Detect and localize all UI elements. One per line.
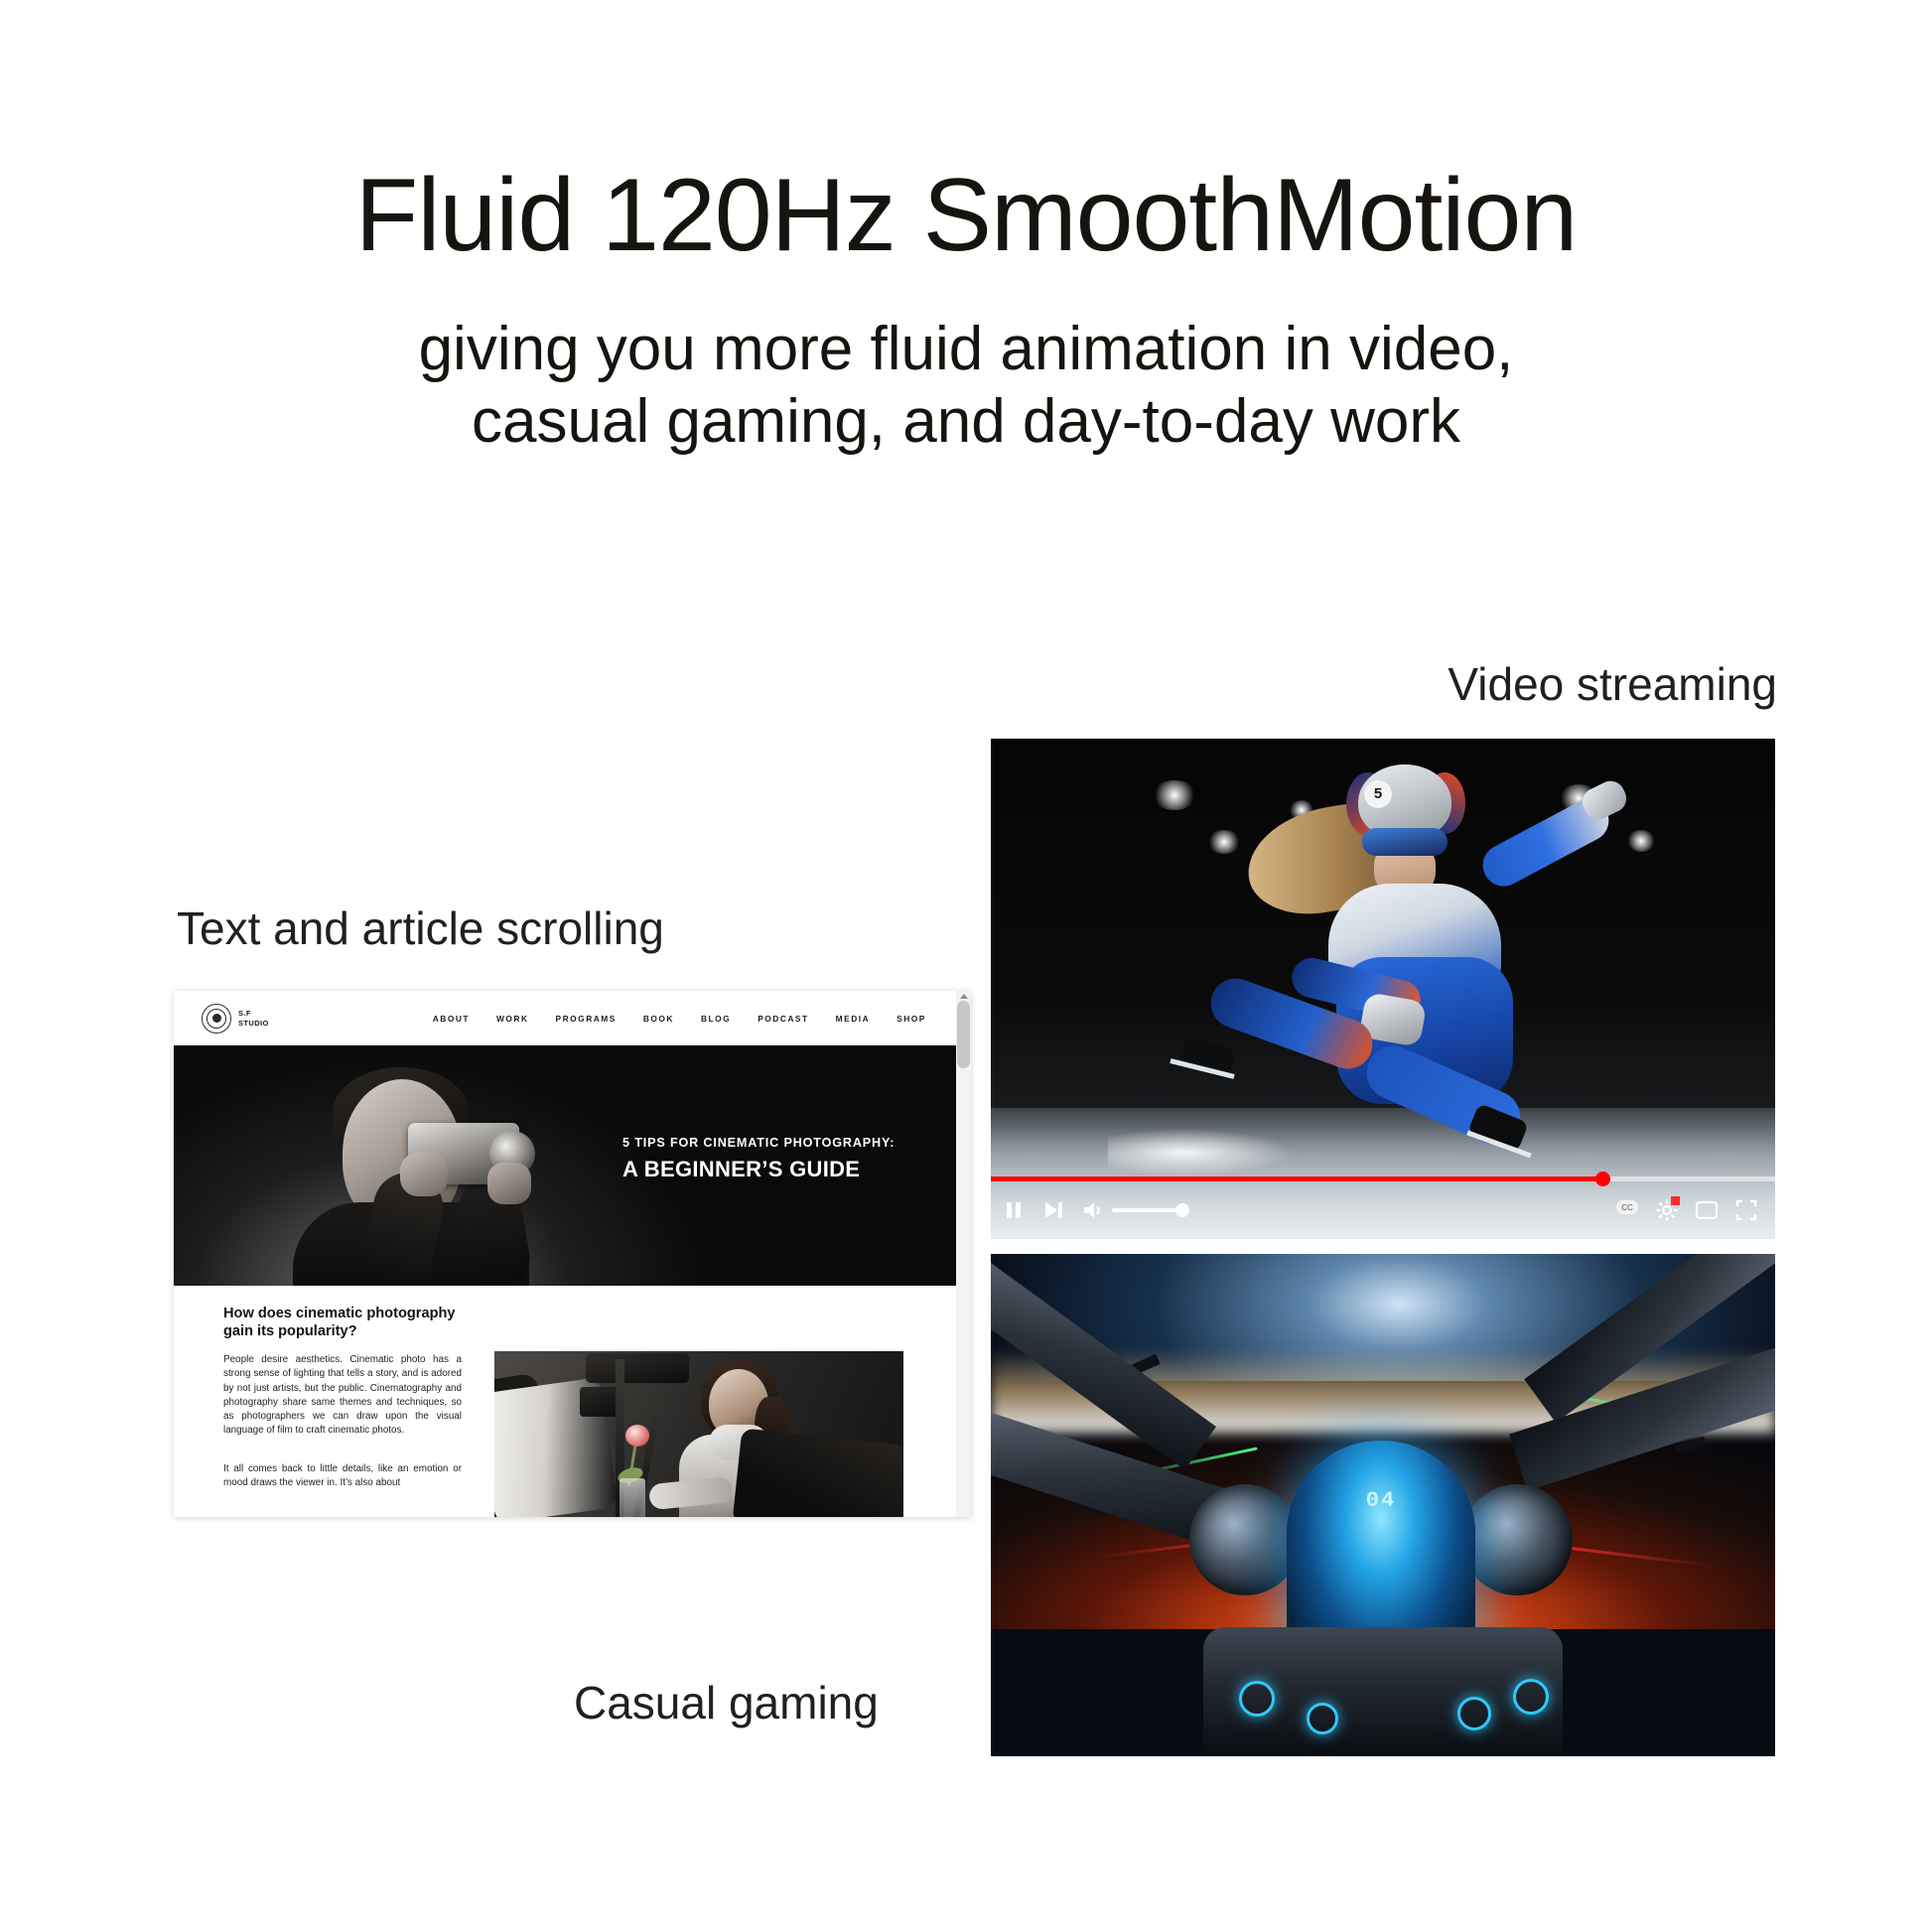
volume-slider-handle[interactable] <box>1175 1203 1189 1217</box>
studio-video-camera <box>586 1353 689 1383</box>
scroll-up-arrow-icon[interactable] <box>960 994 968 999</box>
nav-item-shop[interactable]: SHOP <box>897 1014 926 1024</box>
ship-thruster-left <box>1189 1484 1301 1595</box>
pause-button[interactable] <box>997 1193 1031 1227</box>
video-progress-fill <box>991 1176 1602 1181</box>
site-nav-menu: ABOUT WORK PROGRAMS BOOK BLOG PODCAST ME… <box>433 1014 926 1024</box>
hero-title: A BEGINNER’S GUIDE <box>622 1159 920 1180</box>
settings-new-badge <box>1671 1196 1680 1205</box>
hero-text-block: 5 TIPS FOR CINEMATIC PHOTOGRAPHY: A BEGI… <box>622 1137 920 1180</box>
camera-lens-icon <box>202 1004 231 1034</box>
game-screenshot[interactable]: 04 <box>991 1254 1775 1756</box>
video-controls-bar: CC <box>991 1187 1775 1233</box>
studio-rose-bloom <box>625 1425 649 1447</box>
nav-item-podcast[interactable]: PODCAST <box>758 1014 808 1024</box>
caption-text-scrolling: Text and article scrolling <box>177 901 664 955</box>
nav-item-book[interactable]: BOOK <box>643 1014 674 1024</box>
nav-item-programs[interactable]: PROGRAMS <box>556 1014 617 1024</box>
console-dial-3[interactable] <box>1457 1697 1491 1730</box>
page-subtitle: giving you more fluid animation in video… <box>0 313 1932 458</box>
site-navigation-bar: S.F STUDIO ABOUT WORK PROGRAMS BOOK BLOG… <box>174 991 956 1045</box>
console-dial-1[interactable] <box>1239 1681 1275 1717</box>
nav-item-blog[interactable]: BLOG <box>701 1014 731 1024</box>
fullscreen-button[interactable] <box>1729 1193 1763 1227</box>
volume-slider[interactable] <box>1112 1208 1185 1212</box>
studio-softbox-right <box>732 1428 903 1517</box>
article-heading: How does cinematic photography gain its … <box>223 1306 460 1341</box>
browser-scrollbar-thumb[interactable] <box>957 1001 970 1068</box>
arena-light-5 <box>1626 830 1656 852</box>
site-logo[interactable]: S.F STUDIO <box>202 1004 269 1034</box>
article-inset-photo <box>494 1351 903 1517</box>
ship-thruster-right <box>1461 1484 1573 1595</box>
site-logo-line-2: STUDIO <box>238 1019 269 1028</box>
article-body: How does cinematic photography gain its … <box>174 1286 956 1517</box>
console-dial-2[interactable] <box>1307 1703 1338 1734</box>
site-logo-line-1: S.F <box>238 1009 269 1018</box>
site-logo-text: S.F STUDIO <box>238 1009 269 1027</box>
page-subtitle-line-2: casual gaming, and day-to-day work <box>0 385 1932 458</box>
hero-hand-left <box>400 1153 448 1196</box>
caption-video-streaming: Video streaming <box>1448 657 1777 711</box>
nav-item-media[interactable]: MEDIA <box>836 1014 871 1024</box>
captions-button[interactable]: CC <box>1610 1193 1644 1227</box>
page-title: Fluid 120Hz SmoothMotion <box>0 164 1932 267</box>
video-player[interactable]: 5 CC <box>991 739 1775 1239</box>
hero-hand-right <box>487 1163 531 1204</box>
svg-text:CC: CC <box>1621 1203 1633 1212</box>
browser-scrollbar-track[interactable] <box>956 991 971 1517</box>
console-dial-4[interactable] <box>1513 1679 1549 1715</box>
nav-item-about[interactable]: ABOUT <box>433 1014 470 1024</box>
next-button[interactable] <box>1036 1193 1070 1227</box>
hero-kicker: 5 TIPS FOR CINEMATIC PHOTOGRAPHY: <box>622 1137 920 1150</box>
article-hero-banner: 5 TIPS FOR CINEMATIC PHOTOGRAPHY: A BEGI… <box>174 1045 956 1286</box>
skater-bib-number: 5 <box>1364 780 1392 808</box>
caption-casual-gaming: Casual gaming <box>574 1676 879 1729</box>
miniplayer-button[interactable] <box>1690 1193 1724 1227</box>
video-controls-right-group: CC <box>1604 1193 1763 1227</box>
article-paragraph-2: It all comes back to little details, lik… <box>223 1462 462 1491</box>
volume-button[interactable] <box>1076 1193 1110 1227</box>
ice-spray <box>1108 1128 1297 1177</box>
video-progress-bar[interactable] <box>991 1176 1775 1181</box>
settings-button[interactable] <box>1650 1193 1684 1227</box>
skater-goggles <box>1362 828 1448 856</box>
studio-vase <box>620 1478 645 1517</box>
speed-skater-figure: 5 <box>1187 762 1614 1189</box>
article-paragraph-1: People desire aesthetics. Cinematic phot… <box>223 1353 462 1439</box>
nav-item-work[interactable]: WORK <box>496 1014 529 1024</box>
cockpit-hud-readout: 04 <box>1287 1488 1475 1513</box>
article-browser-mockup[interactable]: S.F STUDIO ABOUT WORK PROGRAMS BOOK BLOG… <box>174 991 971 1517</box>
page-subtitle-line-1: giving you more fluid animation in video… <box>0 313 1932 385</box>
